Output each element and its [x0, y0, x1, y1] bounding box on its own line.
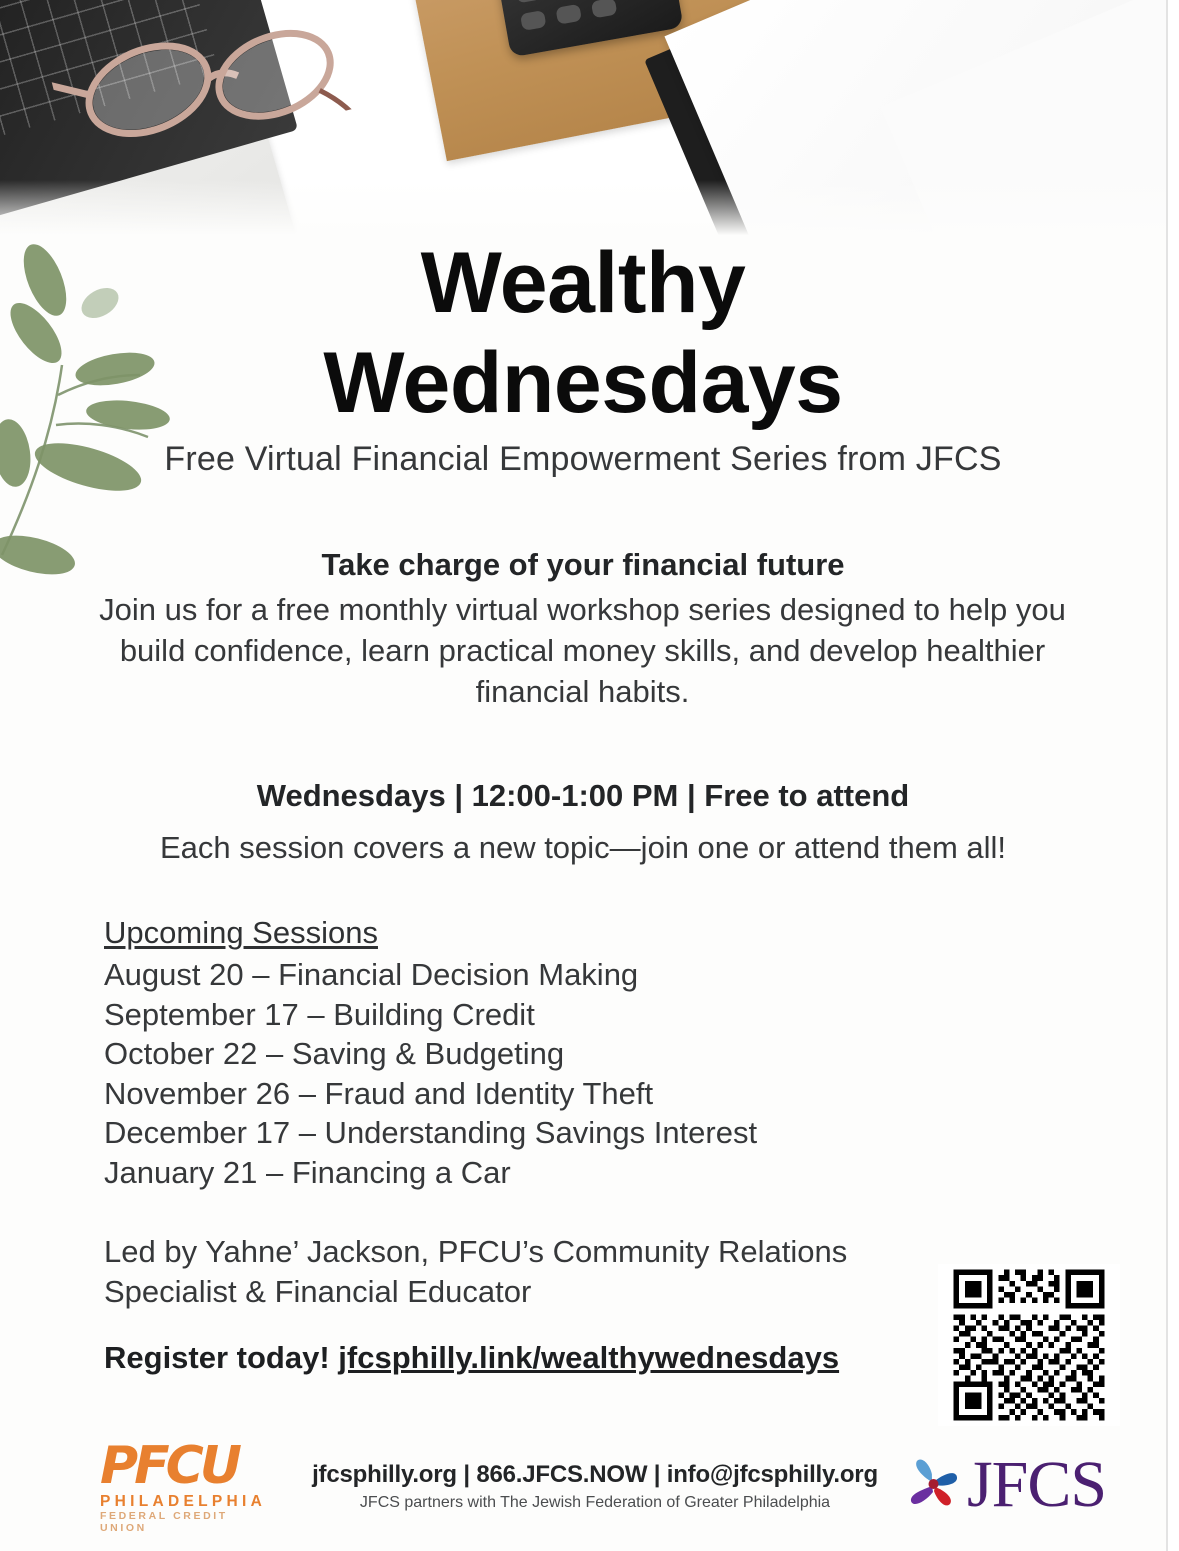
register-url-link[interactable]: jfcsphilly.link/wealthywednesdays	[338, 1340, 839, 1375]
list-item: August 20 – Financial Decision Making	[104, 955, 964, 995]
list-item: November 26 – Fraud and Identity Theft	[104, 1074, 964, 1114]
register-line: Register today! jfcsphilly.link/wealthyw…	[104, 1340, 839, 1376]
flyer-sheet: Wealthy Wednesdays Free Virtual Financia…	[0, 0, 1168, 1551]
list-item: October 22 – Saving & Budgeting	[104, 1034, 964, 1074]
page-subtitle: Free Virtual Financial Empowerment Serie…	[0, 440, 1166, 479]
contact-line[interactable]: jfcsphilly.org | 866.JFCS.NOW | info@jfc…	[290, 1461, 900, 1489]
list-item: December 17 – Understanding Savings Inte…	[104, 1113, 964, 1153]
contact-block: jfcsphilly.org | 866.JFCS.NOW | info@jfc…	[290, 1461, 900, 1512]
register-label: Register today!	[104, 1340, 330, 1375]
sessions-heading: Upcoming Sessions	[104, 915, 964, 951]
schedule-heading: Wednesdays | 12:00-1:00 PM | Free to att…	[0, 778, 1166, 814]
pfcu-tagline-line1: PHILADELPHIA	[100, 1493, 280, 1510]
qr-code-icon[interactable]	[938, 1264, 1120, 1426]
pfcu-logo: PFCU PHILADELPHIA FEDERAL CREDIT UNION	[100, 1440, 280, 1545]
pfcu-tagline-line2: FEDERAL CREDIT UNION	[100, 1510, 280, 1534]
schedule-subtext: Each session covers a new topic—join one…	[0, 830, 1166, 866]
partner-line: JFCS partners with The Jewish Federation…	[290, 1494, 900, 1512]
lead-heading: Take charge of your financial future	[0, 547, 1166, 583]
jfcs-wordmark: JFCS	[967, 1452, 1106, 1518]
page-title-line2: Wednesdays	[0, 343, 1166, 425]
list-item: January 21 – Financing a Car	[104, 1153, 964, 1193]
pfcu-wordmark: PFCU	[100, 1440, 280, 1492]
header-photo	[0, 0, 1166, 240]
presenter-text: Led by Yahne’ Jackson, PFCU’s Community …	[104, 1232, 944, 1311]
lead-body: Join us for a free monthly virtual works…	[95, 590, 1070, 713]
flyer-page: Wealthy Wednesdays Free Virtual Financia…	[0, 0, 1179, 1551]
list-item: September 17 – Building Credit	[104, 995, 964, 1035]
sessions-list: Upcoming Sessions August 20 – Financial …	[104, 915, 964, 1192]
page-title-line1: Wealthy	[0, 243, 1166, 325]
jfcs-pinwheel-icon	[902, 1454, 964, 1516]
jfcs-logo: JFCS	[902, 1452, 1106, 1518]
